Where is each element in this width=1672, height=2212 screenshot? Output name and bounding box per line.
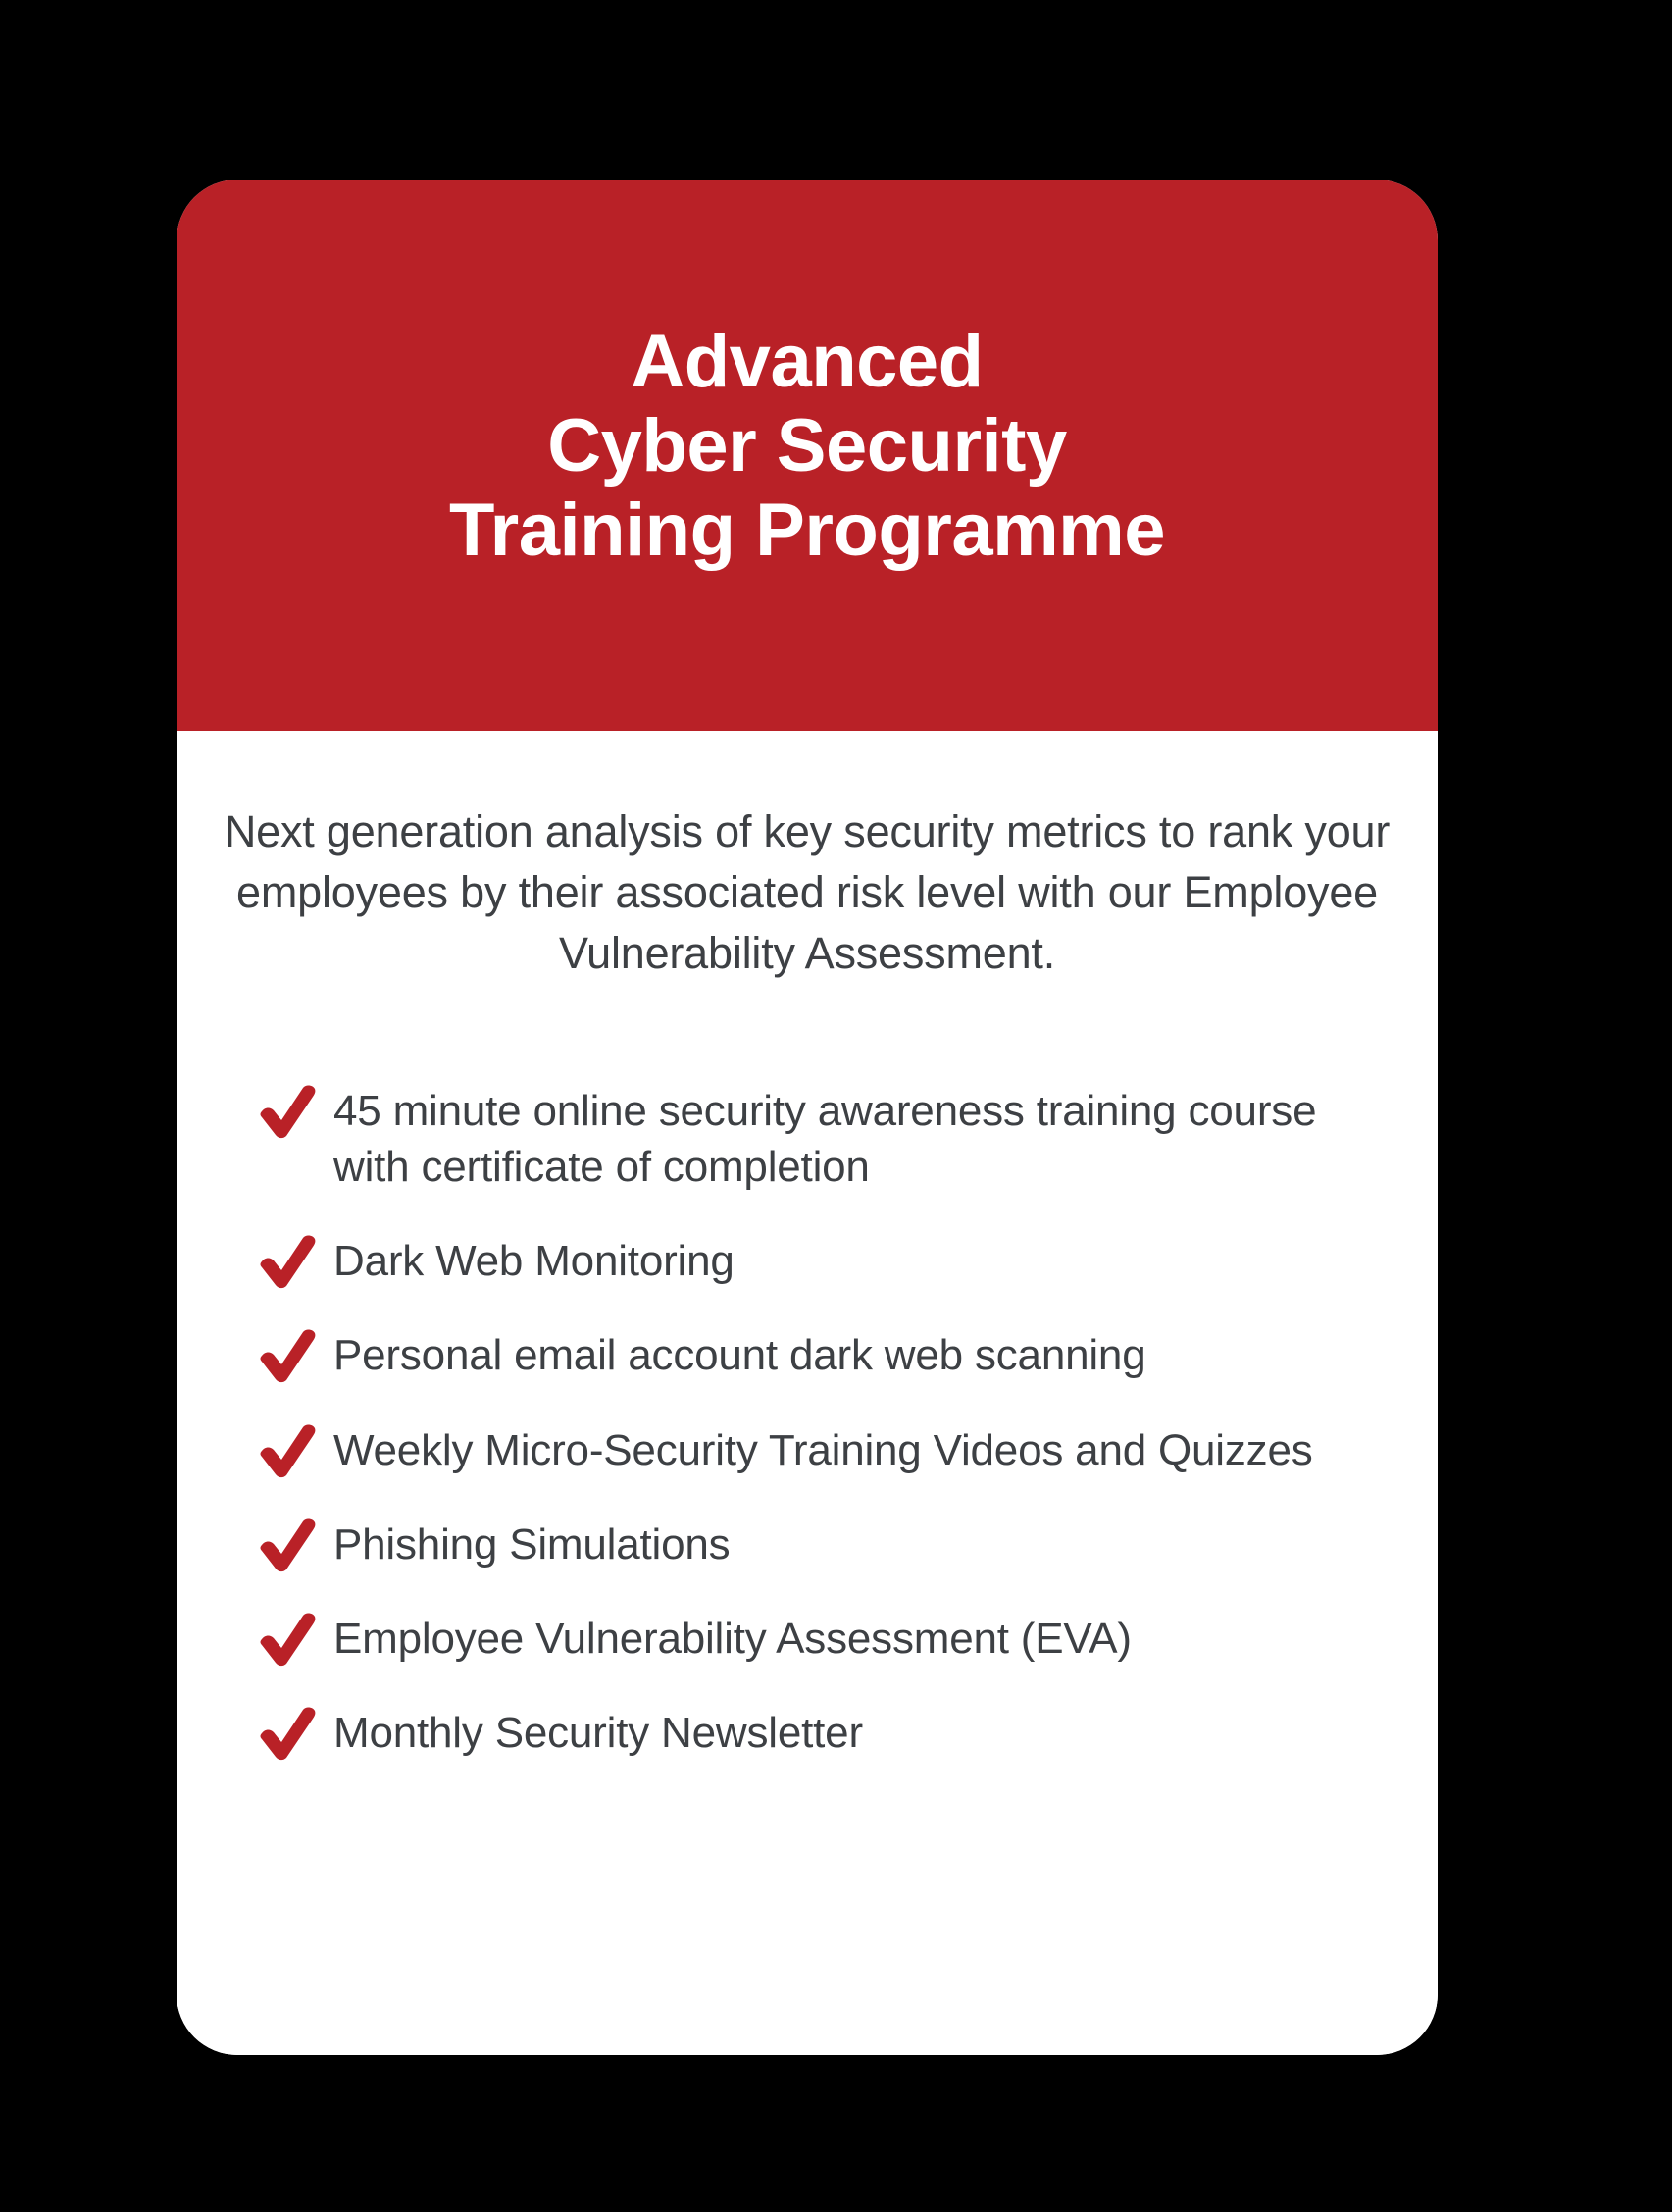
card-body: Next generation analysis of key security…: [177, 731, 1438, 2055]
card-header: Advanced Cyber Security Training Program…: [177, 180, 1438, 731]
list-item-label: Personal email account dark web scanning: [333, 1326, 1145, 1383]
card-title-line-3: Training Programme: [449, 489, 1165, 573]
list-item-label: Employee Vulnerability Assessment (EVA): [333, 1610, 1132, 1667]
check-icon: [257, 1518, 318, 1572]
list-item: Employee Vulnerability Assessment (EVA): [257, 1610, 1394, 1667]
list-item: Dark Web Monitoring: [257, 1232, 1394, 1289]
check-icon: [257, 1234, 318, 1289]
check-icon: [257, 1612, 318, 1667]
list-item-label: 45 minute online security awareness trai…: [333, 1082, 1394, 1195]
list-item-label: Monthly Security Newsletter: [333, 1704, 863, 1761]
list-item: Phishing Simulations: [257, 1516, 1394, 1572]
check-icon: [257, 1706, 318, 1761]
card-title-line-2: Cyber Security: [547, 404, 1066, 489]
card-intro-text: Next generation analysis of key security…: [220, 731, 1394, 984]
feature-list: 45 minute online security awareness trai…: [220, 984, 1394, 1762]
check-icon: [257, 1084, 318, 1139]
list-item: Weekly Micro-Security Training Videos an…: [257, 1421, 1394, 1478]
check-icon: [257, 1328, 318, 1383]
check-icon: [257, 1423, 318, 1478]
list-item: Personal email account dark web scanning: [257, 1326, 1394, 1383]
list-item-label: Phishing Simulations: [333, 1516, 730, 1572]
list-item-label: Dark Web Monitoring: [333, 1232, 735, 1289]
list-item-label: Weekly Micro-Security Training Videos an…: [333, 1421, 1313, 1478]
list-item: Monthly Security Newsletter: [257, 1704, 1394, 1761]
list-item: 45 minute online security awareness trai…: [257, 1082, 1394, 1195]
page-canvas: Advanced Cyber Security Training Program…: [0, 0, 1672, 2212]
card-title-line-1: Advanced: [631, 320, 983, 404]
pricing-card: Advanced Cyber Security Training Program…: [177, 180, 1438, 2055]
